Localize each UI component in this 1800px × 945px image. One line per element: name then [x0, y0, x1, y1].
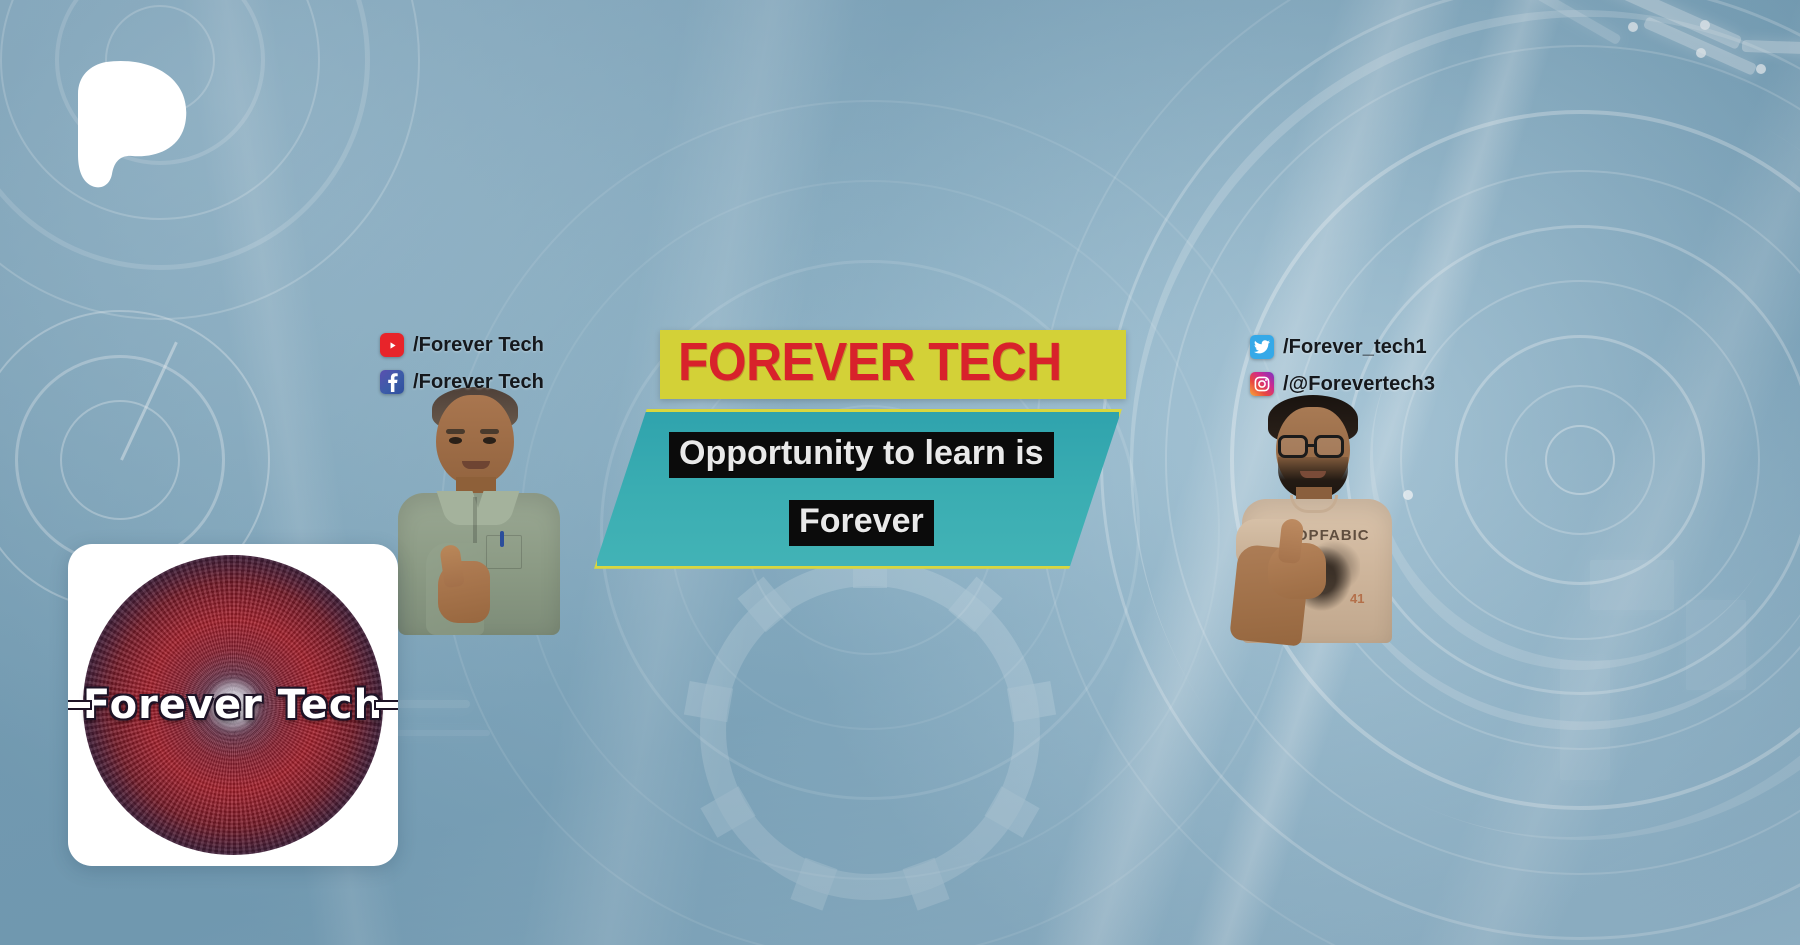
light-band — [1343, 0, 1800, 945]
thumbs-up-icon — [1278, 518, 1304, 564]
patreon-logo[interactable] — [68, 58, 188, 188]
eyebrow-right — [480, 429, 499, 434]
mouth — [462, 461, 490, 469]
circuit-streak — [1600, 0, 1743, 50]
face — [436, 395, 514, 485]
circuit-node — [1700, 20, 1710, 30]
page-title: FOREVER TECH — [678, 334, 1077, 391]
eye-right — [483, 437, 496, 444]
circuit-node — [1696, 48, 1706, 58]
circuit-streak — [1643, 16, 1758, 76]
data-bar — [1590, 560, 1674, 610]
instagram-icon[interactable] — [1250, 372, 1274, 396]
eye-left — [449, 437, 462, 444]
eyeglasses-lens-right — [1314, 435, 1344, 458]
facebook-icon[interactable] — [380, 370, 404, 394]
social-link-twitter[interactable]: /Forever_tech1 — [1250, 332, 1435, 362]
data-bar — [1686, 600, 1746, 690]
tagline-line-1: Opportunity to learn is — [669, 432, 1054, 478]
circuit-node — [1628, 22, 1638, 32]
tagline-line-2: Forever — [789, 500, 934, 546]
pen-icon — [500, 531, 504, 547]
social-links-left: /Forever Tech /Forever Tech — [380, 330, 544, 404]
gear-icon — [700, 560, 1040, 900]
social-link-youtube[interactable]: /Forever Tech — [380, 330, 544, 360]
social-link-instagram[interactable]: /@Forevertech3 — [1250, 369, 1435, 399]
headline-bar: FOREVER TECH — [660, 330, 1126, 399]
presenter-left — [390, 385, 570, 635]
wordmark-dash-left — [68, 702, 90, 708]
tshirt-number-right: 41 — [1350, 591, 1364, 606]
social-handle-youtube: /Forever Tech — [413, 334, 544, 357]
social-link-facebook[interactable]: /Forever Tech — [380, 367, 544, 397]
youtube-icon[interactable] — [380, 333, 404, 357]
social-handle-facebook: /Forever Tech — [413, 371, 544, 394]
mouth — [1300, 471, 1326, 478]
eyebrow-left — [446, 429, 465, 434]
social-handle-twitter: /Forever_tech1 — [1283, 336, 1427, 359]
twitter-icon[interactable] — [1250, 335, 1274, 359]
eyeglasses-lens-left — [1278, 435, 1308, 458]
patreon-banner: TOPFABIC 19 41 /Forever Tech /Forever Te… — [0, 0, 1800, 945]
wordmark-dash-right — [376, 702, 398, 708]
eyeglasses-bridge — [1308, 444, 1316, 447]
tagline-parallelogram: Opportunity to learn is Forever — [594, 409, 1122, 569]
concentric-rings-topleft — [0, 0, 440, 340]
circuit-streak — [1478, 0, 1622, 45]
logo-wordmark: Forever Tech — [68, 682, 398, 728]
title-banner: FOREVER TECH Opportunity to learn is For… — [660, 330, 1140, 569]
social-handle-instagram: /@Forevertech3 — [1283, 373, 1435, 396]
social-links-right: /Forever_tech1 /@Forevertech3 — [1250, 332, 1435, 406]
circuit-node — [1403, 490, 1413, 500]
channel-logo-tile[interactable]: Forever Tech — [68, 544, 398, 866]
data-bar — [1560, 660, 1610, 780]
presenter-right: TOPFABIC 19 41 — [1228, 395, 1404, 643]
logo-wordmark-text: Forever Tech — [83, 682, 383, 728]
circuit-node — [1756, 64, 1766, 74]
circuit-streak — [1742, 40, 1800, 56]
concentric-rings-right — [1060, 0, 1800, 945]
shirt-pocket — [486, 535, 522, 569]
